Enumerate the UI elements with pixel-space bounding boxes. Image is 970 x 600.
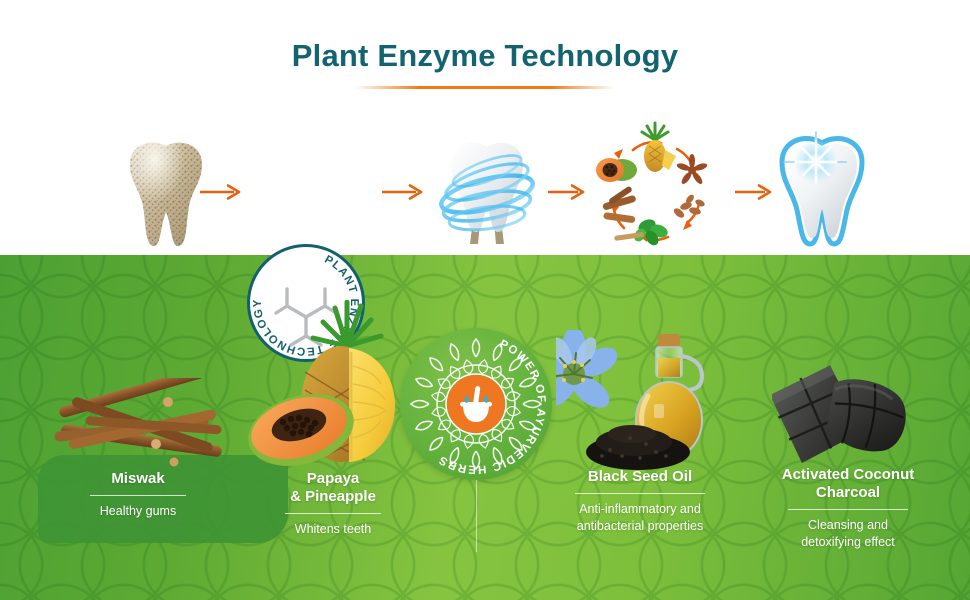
ingredient-name-line1: Papaya [307,470,360,487]
arrow-right-2 [382,184,426,200]
herb-ingredient-cycle-icon [584,118,726,260]
label-divider [788,509,908,510]
ingredient-name: Miswak [38,470,238,488]
ingredient-description: Healthy gums [38,503,238,520]
ingredient-name-line1: Activated Coconut [782,466,915,483]
ingredient-label-miswak: Miswak Healthy gums [38,470,238,520]
title-underline-accent [355,86,615,89]
arrow-right-1 [200,184,244,200]
ingredient-description: Whitens teeth [248,521,418,538]
label-divider [90,495,186,496]
ingredient-label-papaya-pineapple: Papaya & Pineapple Whitens teeth [248,470,418,538]
ingredient-description-line1: Cleansing and [808,518,888,532]
ingredient-description: Anti-inflammatory and antibacterial prop… [540,501,740,535]
miswak-sticks-image [52,378,234,474]
tooth-with-enzyme-swirl-icon [434,134,544,254]
mortar-and-pestle-icon [447,375,505,433]
ingredient-name: Papaya & Pineapple [248,470,418,506]
label-divider [575,493,705,494]
ingredient-label-black-seed-oil: Black Seed Oil Anti-inflammatory and ant… [540,468,740,535]
ingredient-name-line2: Charcoal [816,484,880,501]
ingredient-description-line1: Anti-inflammatory and [579,502,701,516]
black-seed-oil-image [556,330,724,472]
ingredient-name: Activated Coconut Charcoal [748,466,948,502]
ayurvedic-badge-connector-line [476,480,477,552]
ingredient-description: Cleansing and detoxifying effect [748,517,948,551]
ayurvedic-herbs-badge: POWER OF AYURVEDIC HERBS [400,328,552,480]
ingredient-description-line2: antibacterial properties [577,519,703,533]
clean-white-tooth-icon [768,130,876,254]
arrow-right-3 [548,184,588,200]
charcoal-chunks-image [772,358,930,470]
process-row: PLANT ENZYME TECHNOLOGY [0,112,970,262]
ingredient-name-line2: & Pineapple [290,488,376,505]
page-title: Plant Enzyme Technology [0,38,970,74]
label-divider [285,513,381,514]
ingredient-label-activated-coconut-charcoal: Activated Coconut Charcoal Cleansing and… [748,466,948,551]
infographic-canvas: Plant Enzyme Technology [0,0,970,600]
ingredient-description-line2: detoxifying effect [801,535,895,549]
papaya-and-pineapple-image [243,300,411,470]
ingredient-name: Black Seed Oil [540,468,740,486]
